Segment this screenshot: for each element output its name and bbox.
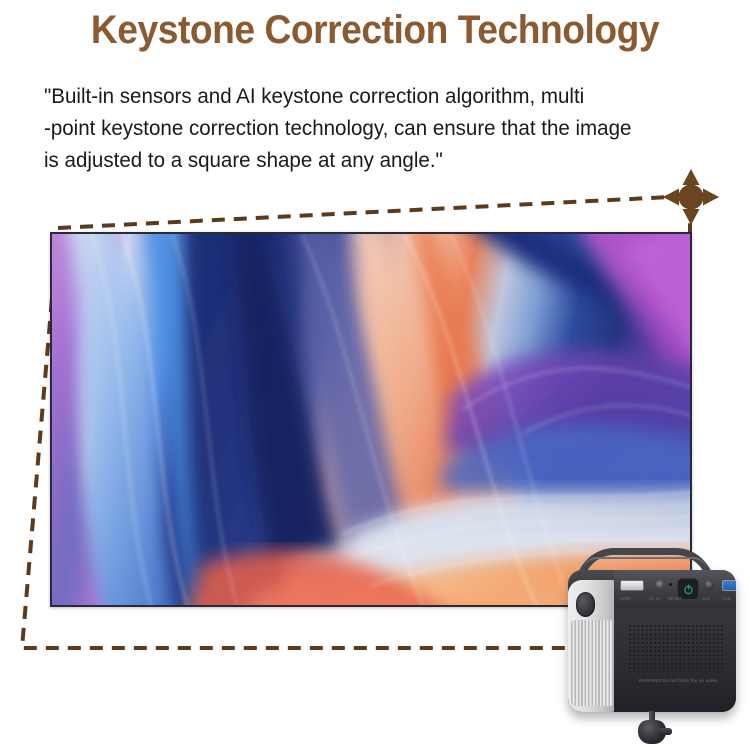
usb-c-port[interactable] (655, 580, 664, 589)
description-paragraph: "Built-in sensors and AI keystone correc… (44, 80, 744, 176)
power-icon (683, 584, 694, 595)
projector-body: HDMI DC IN RESET AUX USB WARNING:Do not … (568, 570, 736, 712)
audio-jack[interactable] (704, 580, 714, 590)
warning-label: WARNING:Do not block the air outlet (626, 678, 730, 683)
hdmi-port[interactable] (620, 580, 644, 591)
tripod-mount[interactable] (632, 711, 672, 750)
projector-side-panel (568, 580, 616, 712)
port-label-reset: RESET (668, 596, 682, 601)
portable-projector[interactable]: HDMI DC IN RESET AUX USB WARNING:Do not … (556, 548, 746, 750)
usb-a-port[interactable] (722, 580, 736, 591)
status-led (669, 583, 672, 586)
port-label-hdmi: HDMI (620, 596, 631, 601)
port-label-usb: USB (722, 596, 731, 601)
description-line-1: "Built-in sensors and AI keystone correc… (44, 80, 713, 112)
page-root: Keystone Correction Technology "Built-in… (0, 0, 750, 750)
arrow-right-icon (703, 189, 719, 206)
projector-port-labels: HDMI DC IN RESET AUX USB (618, 596, 732, 604)
four-way-move-icon[interactable] (662, 168, 720, 226)
page-title: Keystone Correction Technology (26, 8, 724, 53)
description-line-2: -point keystone correction technology, c… (44, 112, 713, 144)
focus-dial[interactable] (576, 592, 595, 617)
arrow-up-icon (683, 169, 700, 185)
port-label-dcin: DC IN (649, 596, 660, 601)
four-way-move-handle[interactable] (662, 168, 720, 226)
description-line-3: is adjusted to a square shape at any ang… (44, 144, 713, 176)
port-label-aux: AUX (702, 596, 711, 601)
air-vent-grille (571, 620, 613, 706)
arrow-left-icon (663, 189, 679, 206)
arrow-down-icon (683, 209, 700, 225)
tripod-lock-lever[interactable] (658, 728, 672, 735)
move-handle-center (679, 185, 704, 210)
projector-front-face: WARNING:Do not block the air outlet (614, 608, 736, 712)
speaker-vent-grille (628, 624, 724, 672)
